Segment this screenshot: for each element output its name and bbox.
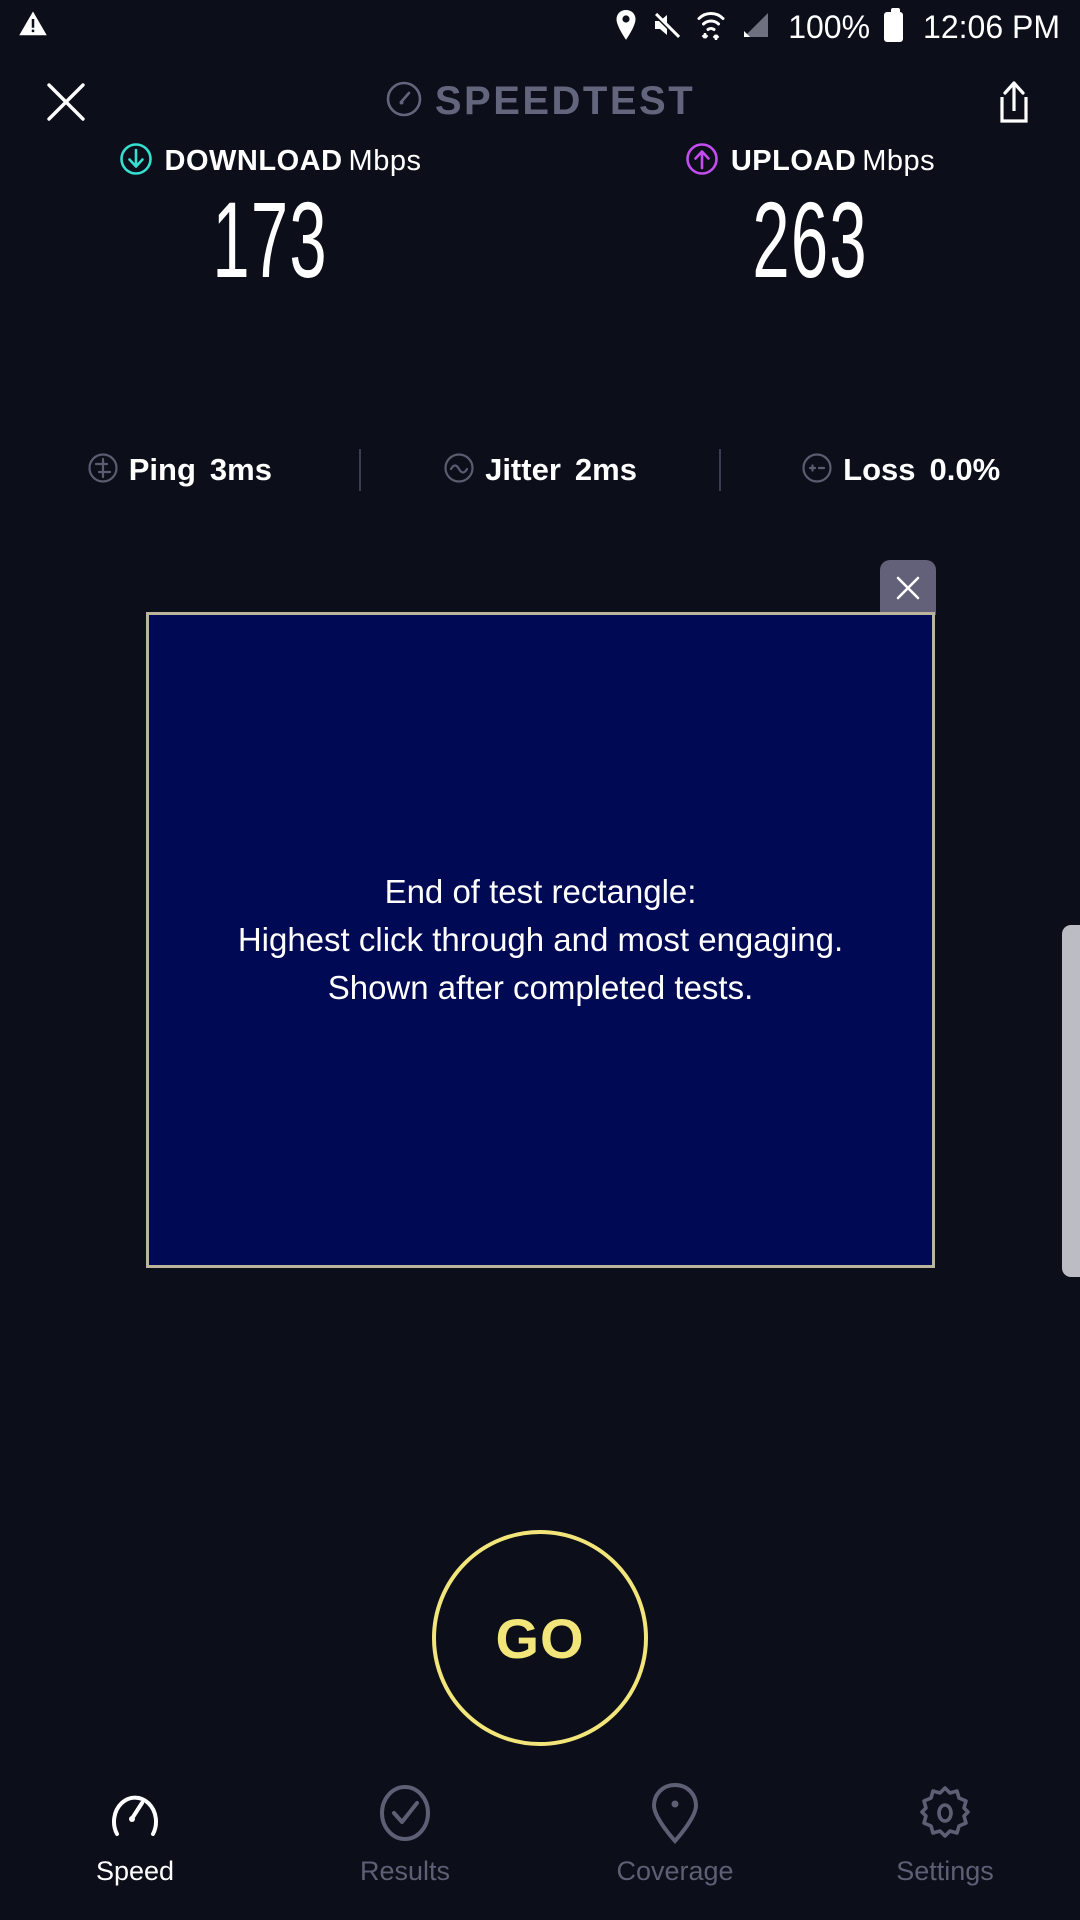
- nav-label-speed: Speed: [96, 1856, 174, 1887]
- advertisement-banner[interactable]: End of test rectangle: Highest click thr…: [146, 612, 935, 1268]
- ping-icon: [87, 452, 119, 489]
- nav-item-settings[interactable]: Settings: [810, 1782, 1080, 1887]
- map-pin-icon: [649, 1782, 701, 1844]
- loss-label: Loss: [843, 452, 915, 488]
- speedometer-icon: [108, 1782, 162, 1844]
- upload-header: UPLOADMbps: [685, 140, 935, 182]
- connection-stats-row: Ping 3ms Jitter 2ms Loss 0.0%: [0, 440, 1080, 500]
- upload-arrow-icon: [685, 142, 719, 181]
- ad-text-block: End of test rectangle: Highest click thr…: [238, 868, 843, 1012]
- download-arrow-icon: [119, 142, 153, 181]
- location-pin-icon: [614, 9, 638, 46]
- brand-title: SPEEDTEST: [435, 79, 695, 124]
- battery-percent-label: 100%: [788, 9, 870, 46]
- go-button[interactable]: GO: [432, 1530, 648, 1746]
- nav-label-settings: Settings: [896, 1856, 994, 1887]
- download-unit: Mbps: [349, 145, 422, 177]
- cellular-signal-icon: [740, 11, 770, 44]
- speedtest-app-screen: 100% 12:06 PM SPEEDTEST: [0, 0, 1080, 1920]
- upload-label: UPLOAD: [731, 145, 856, 177]
- status-icons-group: 100% 12:06 PM: [614, 0, 1060, 54]
- nav-item-speed[interactable]: Speed: [0, 1782, 270, 1887]
- check-circle-icon: [376, 1782, 434, 1844]
- upload-metric: UPLOADMbps 263: [540, 140, 1080, 294]
- ping-label: Ping: [129, 452, 196, 488]
- loss-icon: [801, 452, 833, 489]
- ad-line-3: Shown after completed tests.: [238, 964, 843, 1012]
- status-bar-clock: 12:06 PM: [923, 9, 1060, 46]
- brand-logo: SPEEDTEST: [0, 54, 1080, 149]
- download-header: DOWNLOADMbps: [119, 140, 422, 182]
- status-bar: 100% 12:06 PM: [0, 0, 1080, 54]
- loss-value: 0.0%: [930, 452, 1001, 488]
- ad-close-icon[interactable]: [880, 560, 936, 615]
- speedometer-icon: [385, 80, 423, 123]
- jitter-value: 2ms: [575, 452, 637, 488]
- ad-line-2: Highest click through and most engaging.: [238, 916, 843, 964]
- mute-icon: [652, 10, 682, 45]
- bottom-navigation-bar: Speed Results Coverage Settings: [0, 1770, 1080, 1920]
- nav-label-results: Results: [360, 1856, 450, 1887]
- gear-icon: [916, 1782, 974, 1844]
- battery-full-icon: [884, 12, 903, 42]
- results-panel: DOWNLOADMbps 173 UPLOADMbps 263 Ping: [0, 140, 1080, 294]
- nav-item-results[interactable]: Results: [270, 1782, 540, 1887]
- app-header: SPEEDTEST: [0, 54, 1080, 149]
- jitter-label: Jitter: [485, 452, 561, 488]
- download-metric: DOWNLOADMbps 173: [0, 140, 540, 294]
- nav-label-coverage: Coverage: [616, 1856, 733, 1887]
- ping-stat: Ping 3ms: [0, 452, 359, 489]
- upload-value: 263: [752, 186, 867, 294]
- loss-stat: Loss 0.0%: [721, 452, 1080, 489]
- page-scrollbar[interactable]: [1062, 925, 1080, 1277]
- ad-line-1: End of test rectangle:: [238, 868, 843, 916]
- warning-triangle-icon: [18, 9, 48, 39]
- jitter-icon: [443, 452, 475, 489]
- wifi-icon: [696, 9, 726, 46]
- nav-item-coverage[interactable]: Coverage: [540, 1782, 810, 1887]
- download-value: 173: [212, 186, 327, 294]
- go-button-label: GO: [495, 1606, 584, 1671]
- speed-results-row: DOWNLOADMbps 173 UPLOADMbps 263: [0, 140, 1080, 294]
- share-icon[interactable]: [984, 70, 1044, 134]
- upload-unit: Mbps: [862, 145, 935, 177]
- jitter-stat: Jitter 2ms: [361, 452, 720, 489]
- download-label: DOWNLOAD: [165, 145, 343, 177]
- ping-value: 3ms: [210, 452, 272, 488]
